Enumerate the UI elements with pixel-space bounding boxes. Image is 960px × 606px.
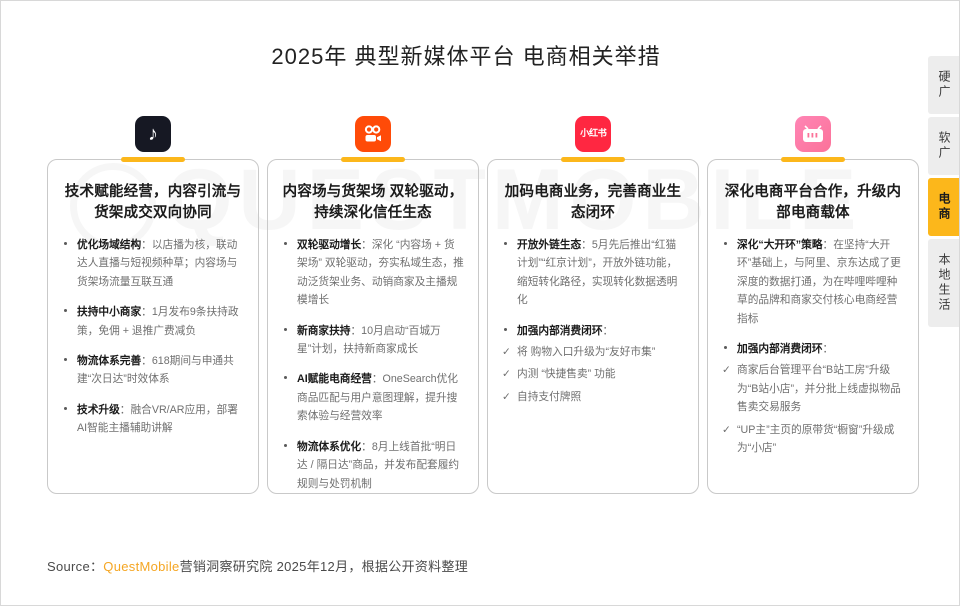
douyin-logo-icon: ♪: [135, 116, 171, 152]
cards-row: ♪ 技术赋能经营，内容引流与货架成交双向协同 优化场域结构：以店播为核，联动达人…: [47, 109, 919, 501]
bilibili-tv-icon: [800, 124, 826, 144]
card-accent-bar: [341, 157, 405, 162]
bullet-dot-icon: [724, 242, 727, 245]
xiaohongshu-wordmark: 小红书: [580, 129, 606, 138]
bullet-term: 加强内部消费闭环: [517, 325, 603, 337]
bullet-term: AI赋能电商经营: [297, 373, 372, 385]
list-item: 深化“大开环”策略：在坚持“大开环”基础上，与阿里、京东达成了更深度的数据打通，…: [722, 236, 904, 328]
source-footer: Source：QuestMobile营销洞察研究院 2025年12月，根据公开资…: [47, 556, 468, 575]
camera-icon: [361, 122, 385, 146]
bullet-dot-icon: [724, 346, 727, 349]
card-bullet-list: 深化“大开环”策略：在坚持“大开环”基础上，与阿里、京东达成了更深度的数据打通，…: [722, 236, 904, 358]
card-kuaishou: 内容场与货架场 双轮驱动，持续深化信任生态 双轮驱动增长：深化 “内容场 + 货…: [267, 109, 479, 501]
bullet-term: 物流体系完善: [77, 355, 141, 367]
sidebar-item-ecommerce[interactable]: 电商: [928, 178, 959, 236]
list-item: 扶持中小商家：1月发布9条扶持政策，免佣 + 退推广费减负: [62, 303, 244, 340]
bilibili-logo-icon: [795, 116, 831, 152]
card-xiaohongshu: 小红书 加码电商业务，完善商业生态闭环 开放外链生态：5月先后推出“红猫计划”“…: [487, 109, 699, 501]
kuaishou-logo-icon: [355, 116, 391, 152]
check-icon: ✓: [722, 361, 731, 379]
bullet-dot-icon: [284, 376, 287, 379]
card-douyin: ♪ 技术赋能经营，内容引流与货架成交双向协同 优化场域结构：以店播为核，联动达人…: [47, 109, 259, 501]
card-check-list: ✓商家后台管理平台“B站工房”升级为“B站小店”，并分批上线虚拟物品售卖交易服务…: [722, 361, 904, 457]
list-item: AI赋能电商经营：OneSearch优化商品匹配与用户意图理解，提升搜索体验与经…: [282, 370, 464, 425]
check-icon: ✓: [722, 421, 731, 439]
bullet-dot-icon: [284, 328, 287, 331]
card-heading: 内容场与货架场 双轮驱动，持续深化信任生态: [282, 182, 464, 224]
list-item: 技术升级：融合VR/AR应用，部署AI智能主播辅助讲解: [62, 401, 244, 438]
card-heading: 技术赋能经营，内容引流与货架成交双向协同: [62, 182, 244, 224]
card-body: 深化电商平台合作，升级内部电商载体 深化“大开环”策略：在坚持“大开环”基础上，…: [707, 159, 919, 494]
bullet-dot-icon: [284, 444, 287, 447]
source-label: Source：: [47, 559, 103, 574]
bullet-term: 深化“大开环”策略: [737, 239, 823, 251]
check-text: 将 购物入口升级为“友好市集”: [517, 346, 655, 358]
list-item: 加强内部消费闭环：: [722, 340, 904, 358]
card-bullet-list: 开放外链生态：5月先后推出“红猫计划”“红京计划”，开放外链功能，缩短转化路径，…: [502, 236, 684, 340]
bullet-dot-icon: [504, 328, 507, 331]
bullet-dot-icon: [284, 242, 287, 245]
list-item: ✓自持支付牌照: [502, 388, 684, 406]
card-accent-bar: [121, 157, 185, 162]
list-item: 物流体系完善：618期间与申通共建“次日达”时效体系: [62, 352, 244, 389]
card-body: 内容场与货架场 双轮驱动，持续深化信任生态 双轮驱动增长：深化 “内容场 + 货…: [267, 159, 479, 494]
check-text: 内测 “快捷售卖” 功能: [517, 368, 616, 380]
bullet-term: 物流体系优化: [297, 441, 361, 453]
list-item: 开放外链生态：5月先后推出“红猫计划”“红京计划”，开放外链功能，缩短转化路径，…: [502, 236, 684, 310]
sidebar-item-local-life[interactable]: 本地生活: [928, 239, 959, 327]
bullet-term: 双轮驱动增长: [297, 239, 361, 251]
bullet-text: ：: [603, 325, 614, 337]
check-icon: ✓: [502, 365, 511, 383]
brand-name: QuestMobile: [103, 559, 179, 574]
card-body: 加码电商业务，完善商业生态闭环 开放外链生态：5月先后推出“红猫计划”“红京计划…: [487, 159, 699, 494]
list-item: 新商家扶持：10月启动“百城万星”计划，扶持新商家成长: [282, 322, 464, 359]
card-bilibili: 深化电商平台合作，升级内部电商载体 深化“大开环”策略：在坚持“大开环”基础上，…: [707, 109, 919, 501]
card-accent-bar: [561, 157, 625, 162]
sidebar-item-hard-ad[interactable]: 硬广: [928, 56, 959, 114]
bullet-term: 加强内部消费闭环: [737, 343, 823, 355]
bullet-dot-icon: [64, 407, 67, 410]
list-item: 双轮驱动增长：深化 “内容场 + 货架场” 双轮驱动，夯实私域生态，推动泛货架业…: [282, 236, 464, 310]
card-check-list: ✓将 购物入口升级为“友好市集” ✓ 内测 “快捷售卖” 功能 ✓自持支付牌照: [502, 343, 684, 406]
bullet-dot-icon: [64, 309, 67, 312]
sidebar-item-soft-ad[interactable]: 软广: [928, 117, 959, 175]
bullet-dot-icon: [64, 242, 67, 245]
card-logo-container: 小红书: [487, 109, 699, 159]
list-item: ✓将 购物入口升级为“友好市集”: [502, 343, 684, 361]
check-icon: ✓: [502, 343, 511, 361]
list-item: ✓商家后台管理平台“B站工房”升级为“B站小店”，并分批上线虚拟物品售卖交易服务: [722, 361, 904, 416]
list-item: ✓ 内测 “快捷售卖” 功能: [502, 365, 684, 383]
bullet-text: ：: [823, 343, 834, 355]
list-item: 物流体系优化：8月上线首批“明日达 / 隔日达”商品，并发布配套履约规则与处罚机…: [282, 438, 464, 493]
bullet-term: 扶持中小商家: [77, 306, 141, 318]
check-text: “UP主”主页的原带货“橱窗”升级成为“小店”: [737, 424, 894, 454]
card-accent-bar: [781, 157, 845, 162]
bullet-dot-icon: [64, 358, 67, 361]
bullet-term: 新商家扶持: [297, 325, 350, 337]
card-heading: 加码电商业务，完善商业生态闭环: [502, 182, 684, 224]
bullet-dot-icon: [504, 242, 507, 245]
card-body: 技术赋能经营，内容引流与货架成交双向协同 优化场域结构：以店播为核，联动达人直播…: [47, 159, 259, 494]
page-title: 2025年 典型新媒体平台 电商相关举措: [1, 39, 931, 71]
bullet-term: 开放外链生态: [517, 239, 581, 251]
slide-root: QUESTMOBILE 2025年 典型新媒体平台 电商相关举措 ♪ 技术赋能经…: [0, 0, 960, 606]
check-icon: ✓: [502, 388, 511, 406]
card-heading: 深化电商平台合作，升级内部电商载体: [722, 182, 904, 224]
bullet-term: 优化场域结构: [77, 239, 141, 251]
list-item: ✓“UP主”主页的原带货“橱窗”升级成为“小店”: [722, 421, 904, 458]
bullet-term: 技术升级: [77, 404, 120, 416]
card-logo-container: ♪: [47, 109, 259, 159]
bullet-text: ：在坚持“大开环”基础上，与阿里、京东达成了更深度的数据打通，为在哔哩哔哩种草的…: [737, 239, 901, 325]
list-item: 加强内部消费闭环：: [502, 322, 684, 340]
card-logo-container: [707, 109, 919, 159]
check-text: 自持支付牌照: [517, 391, 581, 403]
list-item: 优化场域结构：以店播为核，联动达人直播与短视频种草；内容场与货架场流量互联互通: [62, 236, 244, 291]
music-note-icon: ♪: [148, 124, 158, 144]
side-tab-list: 硬广 软广 电商 本地生活: [928, 56, 959, 330]
card-bullet-list: 双轮驱动增长：深化 “内容场 + 货架场” 双轮驱动，夯实私域生态，推动泛货架业…: [282, 236, 464, 493]
check-text: 商家后台管理平台“B站工房”升级为“B站小店”，并分批上线虚拟物品售卖交易服务: [737, 364, 901, 413]
card-logo-container: [267, 109, 479, 159]
xiaohongshu-logo-icon: 小红书: [575, 116, 611, 152]
card-bullet-list: 优化场域结构：以店播为核，联动达人直播与短视频种草；内容场与货架场流量互联互通 …: [62, 236, 244, 438]
source-text: 营销洞察研究院 2025年12月，根据公开资料整理: [180, 559, 469, 574]
